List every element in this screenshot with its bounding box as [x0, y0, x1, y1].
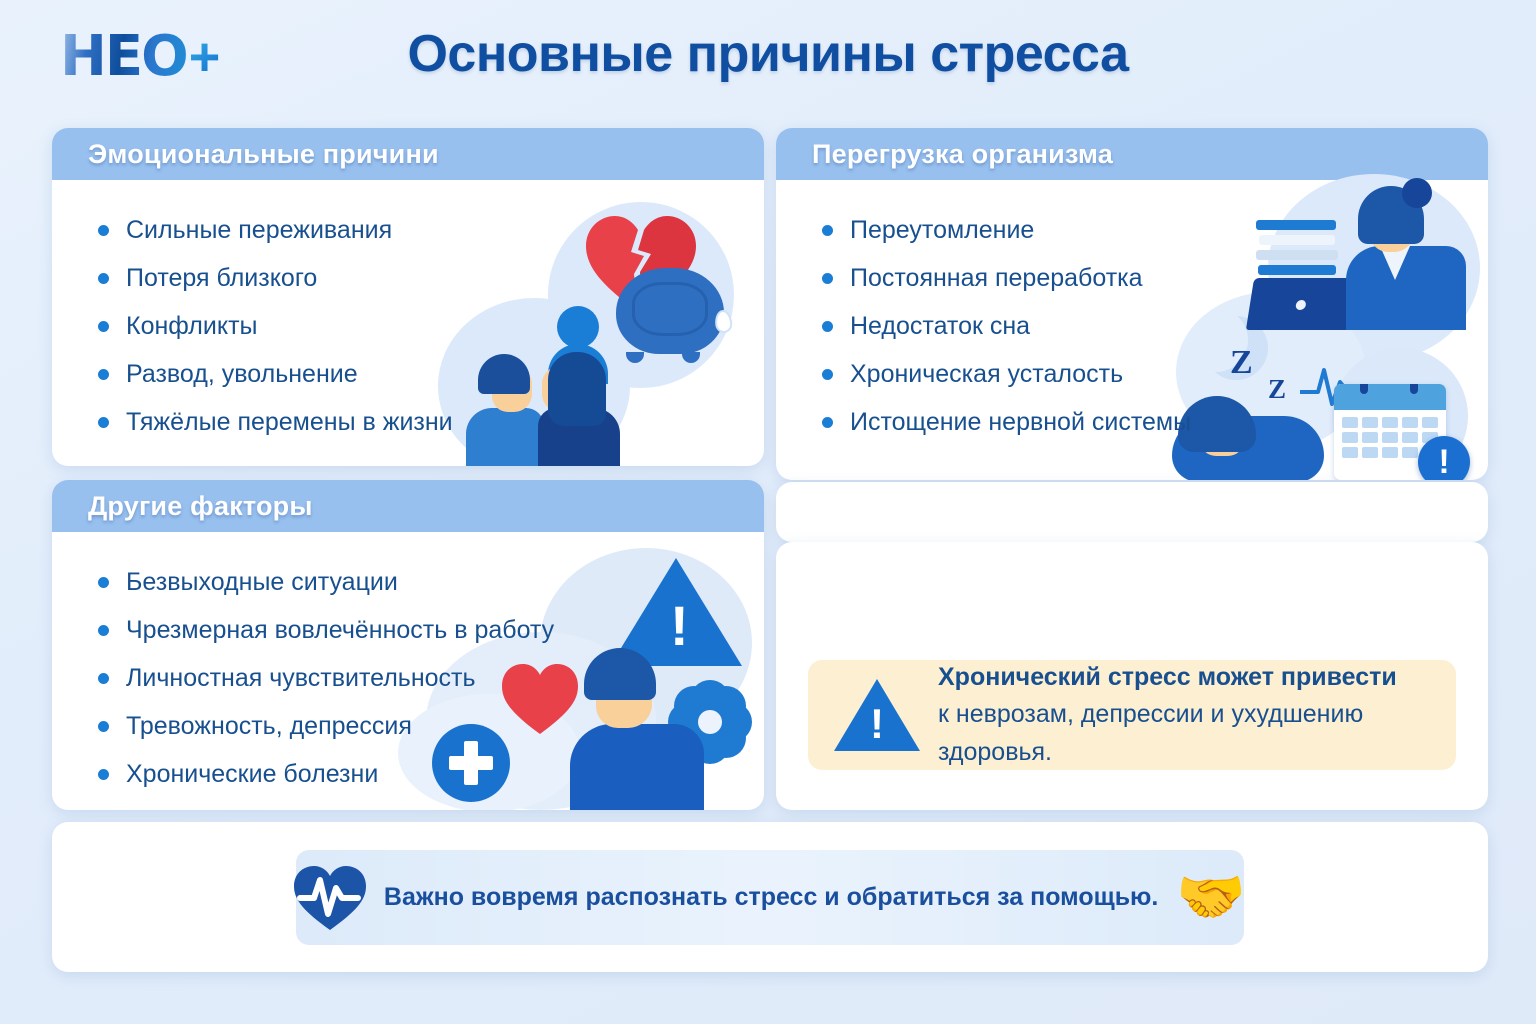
list-item: Постоянная переработка — [776, 254, 1488, 302]
card-bottom-banner: Важно вовремя распознать стресс и обрати… — [52, 822, 1488, 972]
warning-callout: ! Хронический стресс может привести к не… — [808, 660, 1456, 770]
bullet-dot-icon — [98, 417, 109, 428]
card-other-factors: Другие факторы ! Безвыходные ситуации — [52, 480, 764, 810]
warning-text: Хронический стресс может привести к невр… — [938, 659, 1430, 772]
list-item-label: Развод, увольнение — [126, 360, 358, 389]
handshake-icon: 🤝 — [1176, 870, 1246, 926]
list-item-label: Чрезмерная вовлечённость в работу — [126, 616, 554, 645]
list-item-label: Тяжёлые перемены в жизни — [126, 408, 453, 437]
list-item-label: Переутомление — [850, 216, 1034, 245]
list-item-label: Истощение нервной системы — [850, 408, 1191, 437]
list-item: Тревожность, депрессия — [52, 702, 764, 750]
warning-triangle-icon: ! — [834, 677, 920, 753]
list-item: Чрезмерная вовлечённость в работу — [52, 606, 764, 654]
bullet-dot-icon — [98, 577, 109, 588]
card-overload-body: Z Z ! Переутомление Постоянная пер — [776, 180, 1488, 480]
list-item-label: Хроническая усталость — [850, 360, 1123, 389]
emotional-list: Сильные переживания Потеря близкого Конф… — [52, 180, 764, 446]
warning-line-1: Хронический стресс может привести — [938, 659, 1430, 697]
bullet-dot-icon — [98, 321, 109, 332]
exclamation-mark: ! — [834, 703, 920, 745]
card-other-body: ! Безвыходные ситуации Чрезмерная вовлеч… — [52, 532, 764, 810]
list-item-label: Постоянная переработка — [850, 264, 1143, 293]
card-emotional-body: Сильные переживания Потеря близкого Конф… — [52, 180, 764, 466]
list-item-label: Потеря близкого — [126, 264, 317, 293]
card-warning: ! Хронический стресс может привести к не… — [776, 542, 1488, 810]
bullet-dot-icon — [98, 225, 109, 236]
banner-text: Важно вовремя распознать стресс и обрати… — [384, 883, 1158, 912]
warning-line-2: к неврозам, депрессии и ухудшению здоров… — [938, 696, 1430, 771]
list-item: Потеря близкого — [52, 254, 764, 302]
list-item-label: Недостаток сна — [850, 312, 1030, 341]
list-item-label: Тревожность, депрессия — [126, 712, 412, 741]
bullet-dot-icon — [98, 673, 109, 684]
bullet-dot-icon — [98, 273, 109, 284]
list-item: Тяжёлые перемены в жизни — [52, 398, 764, 446]
list-item: Переутомление — [776, 206, 1488, 254]
card-emotional-header: Эмоциональные причини — [52, 128, 764, 180]
card-body-overload: Перегрузка организма Z Z — [776, 128, 1488, 480]
list-item: Хронические болезни — [52, 750, 764, 798]
bullet-dot-icon — [98, 721, 109, 732]
heartbeat-heart-icon — [294, 866, 366, 930]
list-item: Сильные переживания — [52, 206, 764, 254]
list-item-label: Личностная чувствительность — [126, 664, 476, 693]
list-item: Конфликты — [52, 302, 764, 350]
card-overload-header: Перегрузка организма — [776, 128, 1488, 180]
list-item-label: Сильные переживания — [126, 216, 392, 245]
bullet-dot-icon — [822, 273, 833, 284]
bullet-dot-icon — [98, 769, 109, 780]
list-item: Хроническая усталость — [776, 350, 1488, 398]
card-emotional-causes: Эмоциональные причини — [52, 128, 764, 466]
list-item: Развод, увольнение — [52, 350, 764, 398]
bullet-dot-icon — [822, 321, 833, 332]
bullet-dot-icon — [822, 369, 833, 380]
list-item: Безвыходные ситуации — [52, 558, 764, 606]
list-item-label: Безвыходные ситуации — [126, 568, 398, 597]
overload-list: Переутомление Постоянная переработка Нед… — [776, 180, 1488, 446]
other-list: Безвыходные ситуации Чрезмерная вовлечён… — [52, 532, 764, 798]
card-other-title: Другие факторы — [88, 491, 313, 522]
page-title: Основные причины стресса — [0, 24, 1536, 84]
card-emotional-title: Эмоциональные причини — [88, 139, 439, 170]
list-item: Истощение нервной системы — [776, 398, 1488, 446]
call-to-action-banner: Важно вовремя распознать стресс и обрати… — [296, 850, 1244, 945]
bullet-dot-icon — [822, 225, 833, 236]
list-item-label: Хронические болезни — [126, 760, 378, 789]
bullet-dot-icon — [98, 369, 109, 380]
list-item: Недостаток сна — [776, 302, 1488, 350]
list-item-label: Конфликты — [126, 312, 257, 341]
card-other-header: Другие факторы — [52, 480, 764, 532]
list-item: Личностная чувствительность — [52, 654, 764, 702]
bullet-dot-icon — [822, 417, 833, 428]
infographic-root: НЕО+ Основные причины стресса Эмоциональ… — [0, 0, 1536, 1024]
bullet-dot-icon — [98, 625, 109, 636]
card-overload-title: Перегрузка организма — [812, 139, 1113, 170]
card-spacer-empty — [776, 482, 1488, 542]
